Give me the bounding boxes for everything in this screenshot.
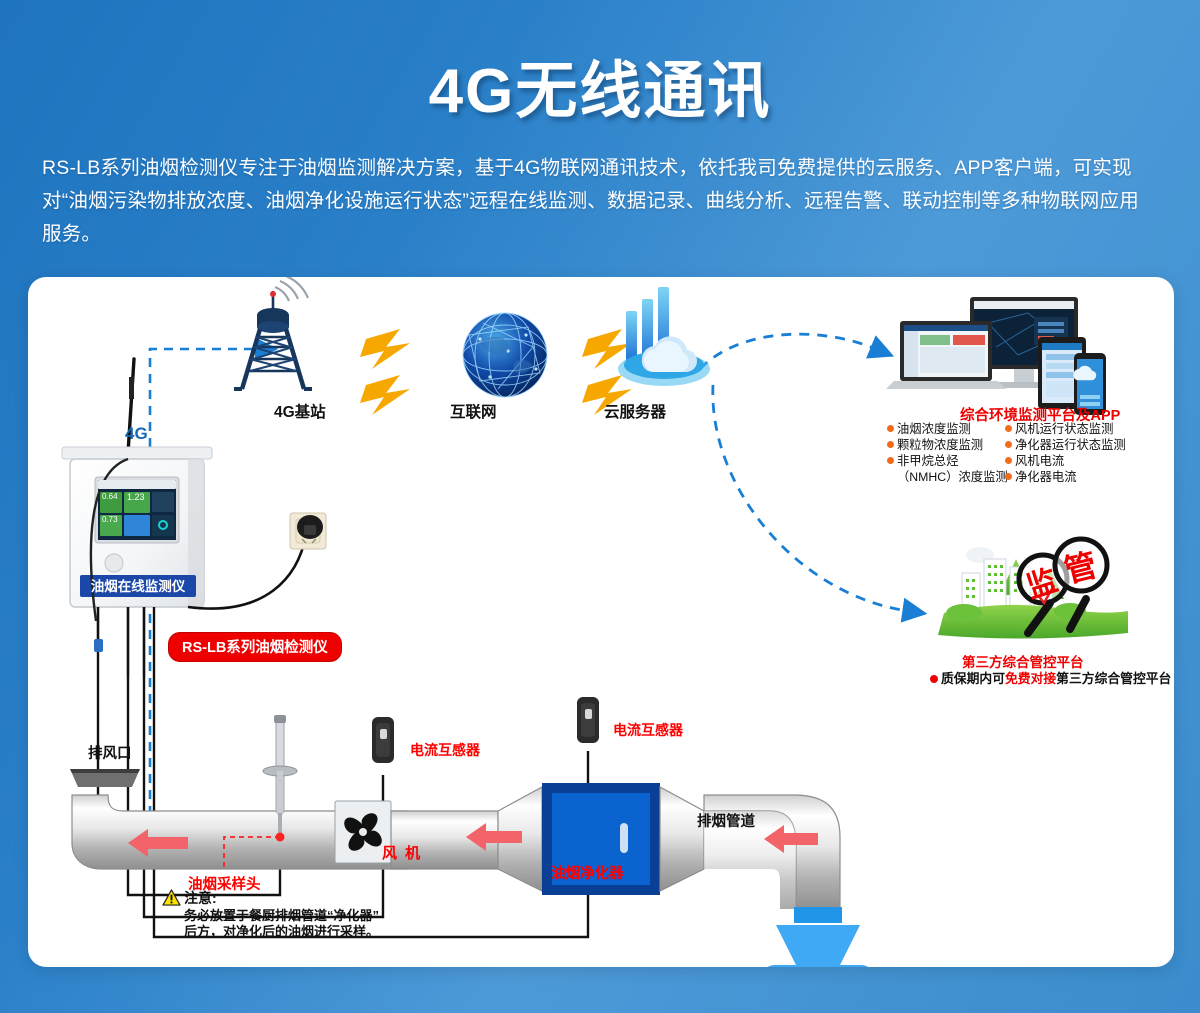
probe-point: [276, 833, 285, 842]
device-panel-label: 油烟在线监测仪: [80, 576, 196, 597]
platform-item-label: 净化器电流: [1015, 470, 1077, 484]
product-badge: RS-LB系列油烟检测仪: [168, 632, 342, 662]
platform-item-label: （NMHC）浓度监测: [897, 470, 1008, 484]
device-screen: 0.64 1.23 0.73: [98, 480, 176, 540]
bullet-dot: [1005, 457, 1012, 464]
screen-titlebar: [98, 480, 176, 489]
bullet-dot: [1005, 441, 1012, 448]
bullet-dot: [887, 441, 894, 448]
screen-value-2: 1.23: [124, 492, 150, 513]
exhaust-duct-label: 排烟管道: [697, 810, 755, 831]
platform-item-label: 非甲烷总烃: [897, 454, 959, 468]
platform-item: 非甲烷总烃: [887, 453, 1005, 469]
exhaust-outlet-label: 排风口: [88, 742, 132, 763]
bullet-dot: [1005, 473, 1012, 480]
thirdparty-note-prefix: 质保期内可: [941, 671, 1005, 686]
platform-item: 风机运行状态监测: [1005, 421, 1133, 437]
fan-label: 风 机: [382, 842, 422, 863]
thirdparty-note: 质保期内可免费对接第三方综合管控平台: [930, 668, 1171, 687]
warning-note-line1: 务必放置于餐厨排烟管道“净化器”: [184, 908, 462, 924]
screen-tile-5: [152, 492, 174, 512]
platform-item-label: 风机电流: [1015, 454, 1064, 468]
purifier-handle: [620, 823, 628, 853]
thirdparty-note-suffix: 第三方综合管控平台: [1056, 671, 1171, 686]
link-cloud-to-platform: [700, 334, 876, 369]
link-cloud-to-thirdparty: [713, 385, 908, 611]
platform-item: 净化器运行状态监测: [1005, 437, 1133, 453]
tower-label: 4G基站: [274, 400, 326, 422]
purifier-label: 油烟净化器: [551, 862, 624, 883]
page-title: 4G无线通讯: [0, 0, 1200, 130]
duct-cone-right: [660, 787, 704, 891]
platform-item: 风机电流: [1005, 453, 1133, 469]
bullet-dot: [1005, 425, 1012, 432]
exhaust-outlet-icon: [70, 769, 140, 787]
platform-item: （NMHC）浓度监测: [887, 469, 1005, 485]
cable-to-ct1: [144, 677, 383, 917]
platform-feature-list: 油烟浓度监测 颗粒物浓度监测 非甲烷总烃 （NMHC）浓度监测 风机运行状态监测…: [887, 421, 1137, 485]
screen-status-icon: [158, 520, 168, 530]
screen-tile-4: [124, 515, 150, 536]
platform-item-label: 油烟浓度监测: [897, 422, 971, 436]
cloud-server-label: 云服务器: [604, 400, 666, 422]
screen-value-3: 0.73: [100, 515, 122, 536]
current-transformer-right: [577, 697, 599, 743]
platform-item-label: 风机运行状态监测: [1015, 422, 1113, 436]
cell-tower-icon: [234, 277, 312, 389]
bullet-dot: [930, 675, 938, 683]
warning-note: 注意: 务必放置于餐厨排烟管道“净化器” 后方，对净化后的油烟进行采样。: [162, 888, 462, 940]
current-transformer-left: [372, 717, 394, 763]
warning-triangle-icon: [162, 889, 181, 906]
platform-item: 净化器电流: [1005, 469, 1133, 485]
platform-devices: [886, 297, 1106, 415]
power-socket-icon: [290, 513, 326, 549]
thirdparty-note-highlight: 免费对接: [1005, 671, 1056, 686]
platform-item: 颗粒物浓度监测: [887, 437, 1005, 453]
cloud-server-icon: [618, 287, 710, 386]
internet-label: 互联网: [450, 400, 497, 422]
platform-item-label: 颗粒物浓度监测: [897, 438, 983, 452]
ct-left-label: 电流互感器: [410, 740, 480, 760]
screen-value-1: 0.64: [100, 492, 122, 513]
platform-item-label: 净化器运行状态监测: [1015, 438, 1126, 452]
warning-note-head: 注意:: [184, 888, 462, 908]
page-description: RS-LB系列油烟检测仪专注于油烟监测解决方案，基于4G物联网通讯技术，依托我司…: [42, 152, 1158, 251]
bullet-dot: [887, 425, 894, 432]
page-header: 4G无线通讯 RS-LB系列油烟检测仪专注于油烟监测解决方案，基于4G物联网通讯…: [0, 0, 1200, 251]
bullet-dot: [887, 457, 894, 464]
globe-icon: [463, 313, 547, 397]
warning-note-line2: 后方，对净化后的油烟进行采样。: [184, 924, 462, 940]
ct-right-label: 电流互感器: [613, 720, 683, 740]
range-hood-icon: [764, 907, 872, 967]
link-4g-tag: 4G: [125, 424, 148, 444]
platform-item: 油烟浓度监测: [887, 421, 1005, 437]
